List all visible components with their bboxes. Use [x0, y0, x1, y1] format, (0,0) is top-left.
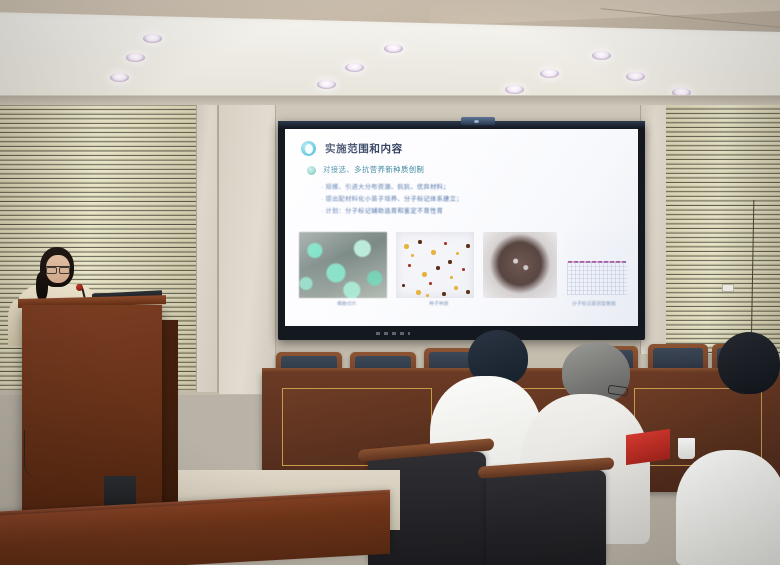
seed-dot	[429, 282, 432, 285]
slide-bullet-list: 规模、引进大分布资源、抗抗、优异材料；提出配材料化小苗子培养、分子标记体系建立；…	[321, 182, 624, 218]
downlight-icon	[384, 44, 403, 53]
downlight-icon	[626, 72, 645, 81]
downlight-icon	[345, 63, 364, 72]
webcam-icon	[461, 117, 495, 125]
slide-content: 实施范围和内容 对接选、多抗营养新种质创制 规模、引进大分布资源、抗抗、优异材料…	[285, 129, 638, 326]
globe-icon	[307, 166, 316, 175]
downlight-icon	[505, 85, 524, 94]
seed-dot	[402, 284, 405, 287]
tissue-culture-micrograph	[299, 232, 387, 298]
seed-dot	[462, 268, 465, 271]
acoustic-slat-panel-right	[666, 104, 780, 354]
slat-shading	[666, 104, 780, 354]
presentation-screen[interactable]: 实施范围和内容 对接选、多抗营养新种质创制 规模、引进大分布资源、抗抗、优异材料…	[278, 121, 645, 340]
slide-bullet: 计划：分子标记辅助选育和鉴定不育性育	[321, 206, 624, 218]
downlight-icon	[540, 69, 559, 78]
slide-title-row: 实施范围和内容	[301, 141, 624, 156]
seed-dot	[456, 252, 459, 255]
gel-electrophoresis-plot	[566, 232, 628, 298]
slide-figure-captions: 细胞切片 种子种质 分子标记基因型数据	[299, 301, 631, 307]
seed-dot	[431, 250, 436, 255]
red-nameplate	[626, 429, 670, 465]
downlight-icon	[143, 34, 162, 43]
glasses-icon	[46, 266, 70, 271]
seed-dot	[408, 264, 411, 267]
seed-dot	[450, 276, 453, 279]
figure-caption	[483, 301, 557, 307]
foreground-chair-2[interactable]	[486, 470, 606, 565]
figure-caption: 细胞切片	[299, 301, 395, 307]
seed-dot	[466, 244, 470, 248]
seed-dot	[422, 272, 427, 277]
seed-dot	[426, 294, 429, 297]
downlight-icon	[317, 80, 336, 89]
screen-control-buttons[interactable]	[376, 332, 410, 335]
speaker-podium: JAAS 江苏省农业科学院	[22, 305, 162, 520]
slide-title: 实施范围和内容	[325, 141, 403, 156]
downlight-icon	[592, 51, 611, 60]
screen-surface: 实施范围和内容 对接选、多抗营养新种质创制 规模、引进大分布资源、抗抗、优异材料…	[285, 129, 638, 326]
petri-dish-photo	[483, 232, 557, 298]
wall-top-molding	[0, 96, 780, 105]
slide-bullet: 提出配材料化小苗子培养、分子标记体系建立；	[321, 194, 624, 206]
slide-figure-strip	[299, 232, 629, 298]
figure-caption: 分子标记基因型数据	[557, 301, 631, 307]
slide-bullet: 规模、引进大分布资源、抗抗、优异材料；	[321, 182, 624, 194]
seed-dot	[466, 290, 470, 294]
seed-dot	[454, 286, 458, 290]
downlight-icon	[110, 73, 129, 82]
seed-dot	[448, 260, 452, 264]
seed-collection-photo	[396, 232, 474, 298]
shirt	[676, 450, 780, 565]
seed-dot	[436, 266, 440, 270]
seed-dot	[444, 242, 447, 245]
slide-subtitle: 对接选、多抗营养新种质创制	[323, 165, 424, 175]
bullet-circle-icon	[301, 141, 316, 156]
microphone-icon[interactable]	[76, 284, 83, 291]
seed-dot	[418, 240, 422, 244]
seed-dot	[416, 290, 421, 295]
head	[718, 332, 780, 394]
wall-pilaster-1	[196, 100, 218, 392]
wall-switch-plate[interactable]	[722, 284, 734, 292]
wall-pilaster-2	[218, 104, 276, 394]
paper-cup	[678, 438, 695, 459]
seed-dot	[442, 292, 446, 296]
seed-dot	[411, 254, 414, 257]
slide-subtitle-row: 对接选、多抗营养新种质创制	[307, 165, 624, 175]
conference-room-scene: 实施范围和内容 对接选、多抗营养新种质创制 规模、引进大分布资源、抗抗、优异材料…	[0, 0, 780, 565]
podium-cable	[24, 430, 38, 478]
gel-grid	[567, 262, 627, 295]
seed-dot	[404, 244, 409, 249]
figure-caption: 种子种质	[395, 301, 483, 307]
downlight-icon	[126, 53, 145, 62]
